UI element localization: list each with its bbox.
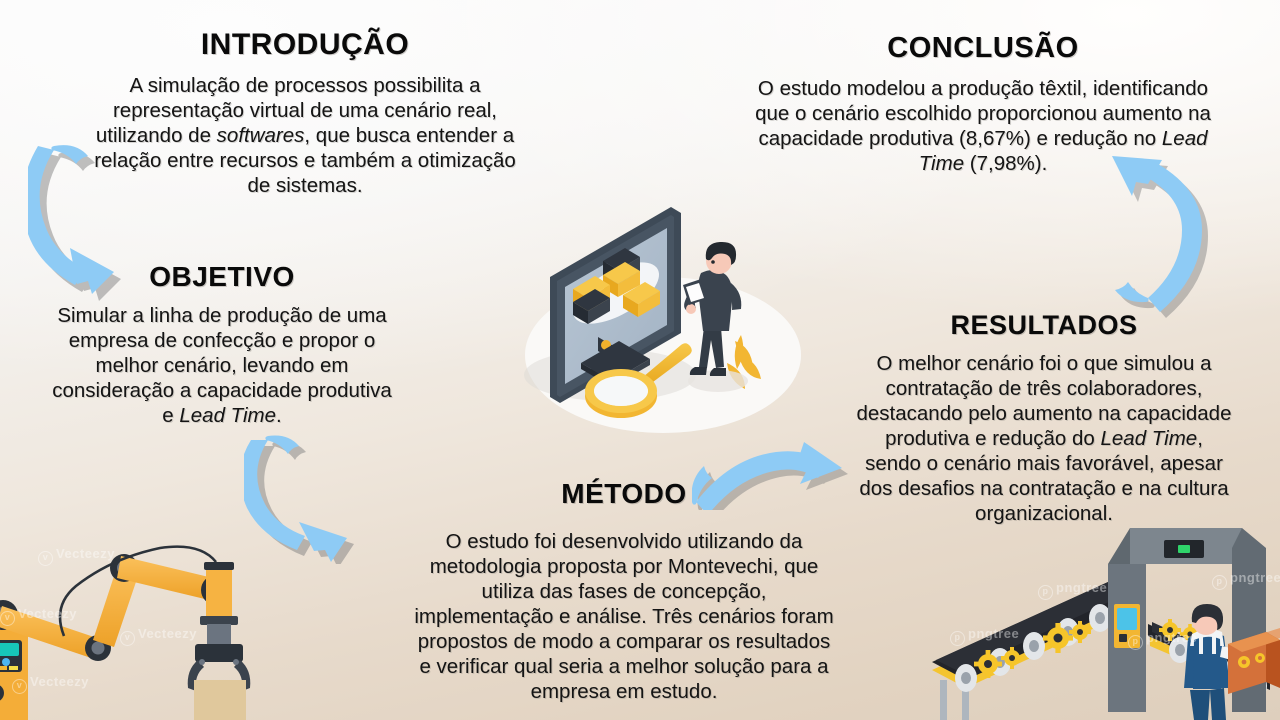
- conveyor-belt-packing-illustration: ppngtree ppngtree ppngtree ppngtree: [922, 522, 1280, 720]
- section-introducao: INTRODUÇÃO A simulação de processos poss…: [62, 28, 548, 198]
- metodo-body: O estudo foi desenvolvido utilizando dam…: [374, 529, 874, 704]
- conclusao-body: O estudo modelou a produção têxtil, iden…: [718, 76, 1248, 176]
- robotic-arm-illustration: vVecteezy vVecteezy vVecteezy vVecteezy: [0, 528, 320, 720]
- resultados-title: RESULTADOS: [834, 310, 1254, 341]
- section-resultados: RESULTADOS O melhor cenário foi o que si…: [834, 310, 1254, 526]
- objetivo-title: OBJETIVO: [22, 261, 422, 293]
- introducao-body: A simulação de processos possibilita are…: [62, 73, 548, 198]
- resultados-body: O melhor cenário foi o que simulou acont…: [834, 351, 1254, 526]
- section-conclusao: CONCLUSÃO O estudo modelou a produção tê…: [718, 32, 1248, 176]
- objetivo-body: Simular a linha de produção de umaempres…: [22, 303, 422, 428]
- conclusao-title: CONCLUSÃO: [718, 32, 1248, 65]
- isometric-monitor-simulation-illustration: [495, 185, 825, 440]
- infographic-poster: vVecteezy vVecteezy vVecteezy vVecteezy: [0, 0, 1280, 720]
- section-objetivo: OBJETIVO Simular a linha de produção de …: [22, 261, 422, 428]
- introducao-title: INTRODUÇÃO: [62, 28, 548, 62]
- arrow-resultados-to-conclusao: [1092, 150, 1240, 325]
- section-metodo: MÉTODO O estudo foi desenvolvido utiliza…: [374, 478, 874, 704]
- metodo-title: MÉTODO: [374, 478, 874, 510]
